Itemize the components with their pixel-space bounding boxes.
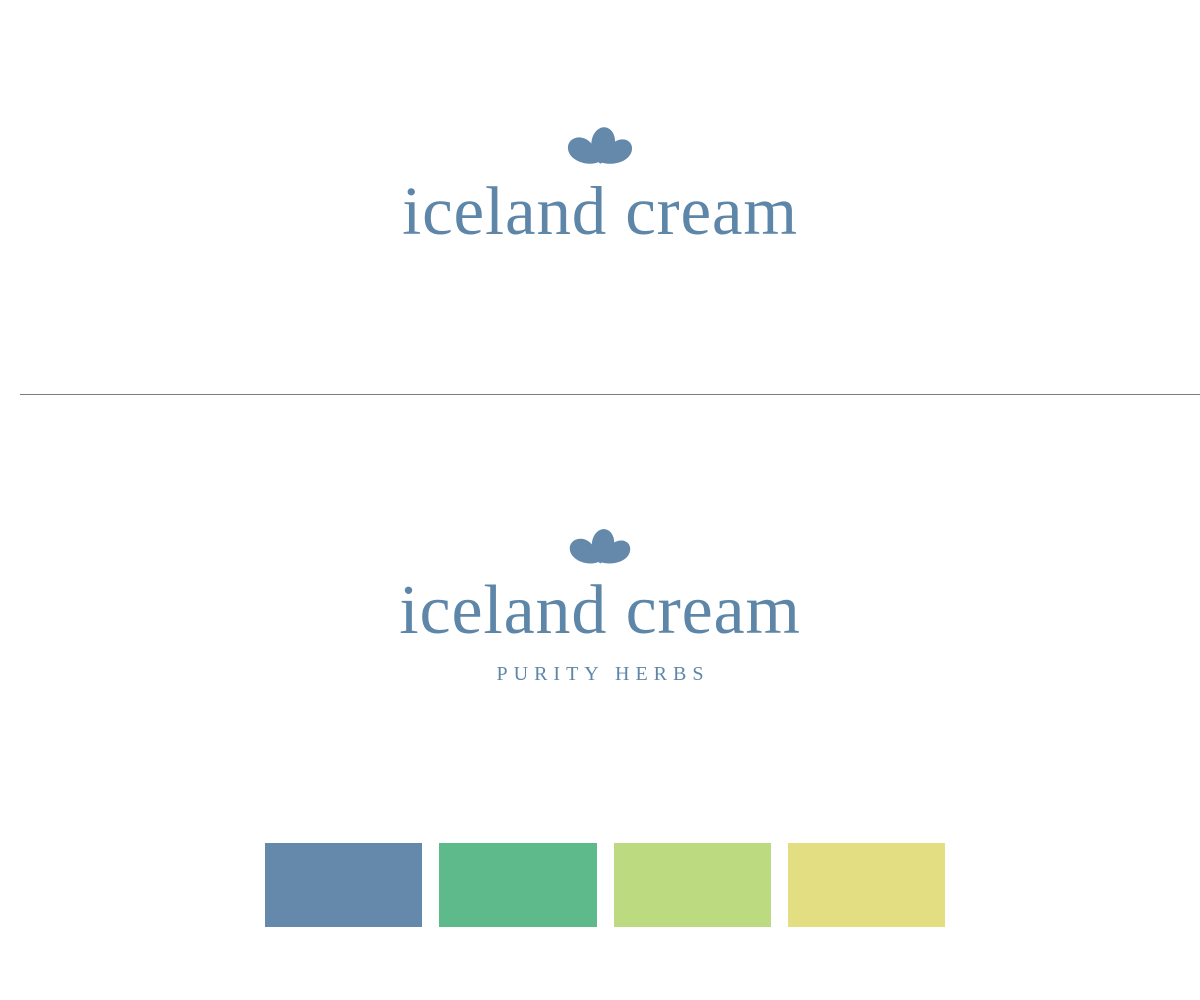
logo-lockup-secondary: iceland cream PURITY HERBS [0, 522, 1200, 684]
color-swatch-brand-blue [265, 843, 422, 927]
tagline: PURITY HERBS [491, 664, 710, 684]
color-swatch-brand-light-green [614, 843, 771, 927]
brand-sheet: iceland cream iceland cream PURITY HERBS [0, 0, 1200, 1000]
wordmark-primary: iceland cream [402, 177, 798, 246]
section-divider [20, 394, 1200, 395]
color-swatch-brand-green [439, 843, 596, 927]
three-petal-flower-icon [565, 120, 635, 164]
color-palette [265, 843, 945, 927]
three-petal-flower-icon [567, 522, 633, 564]
wordmark-secondary: iceland cream [399, 576, 801, 646]
color-swatch-brand-yellow [788, 843, 945, 927]
logo-lockup-primary: iceland cream [0, 120, 1200, 246]
